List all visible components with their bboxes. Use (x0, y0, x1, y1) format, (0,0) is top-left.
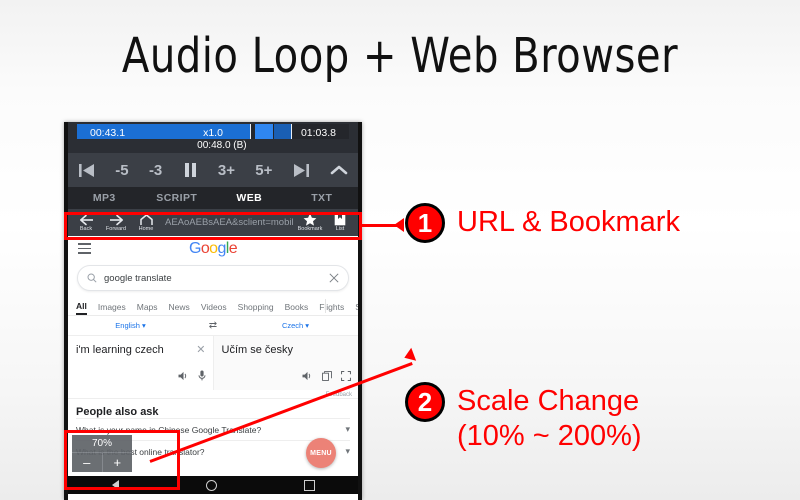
logo-letter: g (217, 240, 225, 257)
clear-search-icon (329, 273, 339, 283)
page-title: Audio Loop + Web Browser (28, 28, 772, 84)
gnav-news[interactable]: News (169, 302, 190, 315)
rewind-5-button[interactable]: -5 (115, 163, 128, 178)
translate-output-actions (302, 368, 351, 386)
next-track-button[interactable] (293, 163, 310, 178)
gnav-divider (325, 299, 326, 313)
gnav-search-tools[interactable]: Search (355, 302, 358, 315)
fullscreen-icon[interactable] (341, 368, 351, 386)
gnav-books[interactable]: Books (285, 302, 309, 315)
speaker-icon[interactable] (302, 368, 313, 386)
gnav-flights[interactable]: Flights (319, 302, 344, 315)
tab-web[interactable]: WEB (213, 192, 286, 204)
paa-title: People also ask (76, 406, 350, 418)
forward-5-button[interactable]: 5+ (255, 163, 272, 178)
rewind-3-button[interactable]: -3 (149, 163, 162, 178)
menu-fab-button[interactable]: MENU (306, 438, 336, 468)
seek-bar[interactable]: 00:43.1 x1.0 01:03.8 (77, 124, 349, 139)
logo-letter: e (229, 240, 237, 257)
loop-marker-label: 00:48.0 (B) (197, 140, 246, 152)
google-logo: Google (68, 240, 358, 258)
tab-mp3[interactable]: MP3 (68, 192, 141, 204)
highlight-box-url (64, 212, 362, 240)
gnav-all[interactable]: All (76, 301, 87, 315)
google-result-tabs: All Images Maps News Videos Shopping Boo… (68, 297, 358, 316)
annotation-badge-2: 2 (405, 382, 445, 422)
translate-card: English ▾ ⇄ Czech ▾ i'm learning czech ✕ (68, 316, 358, 399)
translate-target-text: Učím se česky (222, 343, 351, 357)
nav-recents-icon[interactable] (304, 480, 315, 491)
callout-arrowhead-1 (394, 218, 404, 232)
logo-letter: G (189, 240, 201, 257)
player-controls: -5 -3 3+ 5+ (68, 153, 358, 187)
annotation-badge-1: 1 (405, 203, 445, 243)
translate-source-text[interactable]: i'm learning czech (76, 343, 205, 357)
speaker-icon[interactable] (178, 368, 189, 386)
tab-script[interactable]: SCRIPT (141, 192, 214, 204)
google-search-box[interactable]: google translate (77, 265, 349, 291)
translate-input-actions (178, 368, 206, 386)
search-icon (87, 273, 97, 283)
annotation-2: 2 Scale Change (10% ~ 200%) (405, 382, 642, 454)
previous-track-button[interactable] (78, 163, 95, 178)
chevron-down-icon: ▾ (142, 321, 146, 330)
logo-letter: o (201, 240, 209, 257)
translate-language-bar: English ▾ ⇄ Czech ▾ (68, 316, 358, 336)
source-language-select[interactable]: English ▾ (68, 321, 193, 330)
swap-languages-icon[interactable]: ⇄ (193, 320, 233, 331)
annotation-text-2: Scale Change (10% ~ 200%) (457, 382, 642, 454)
total-time: 01:03.8 (301, 126, 336, 141)
feedback-link[interactable]: Feedback (68, 390, 358, 398)
annotation-1: 1 URL & Bookmark (405, 203, 680, 243)
chevron-down-icon[interactable]: ▾ (345, 424, 350, 435)
highlight-box-scale (64, 430, 180, 490)
annotation-text-1: URL & Bookmark (457, 203, 680, 240)
target-language-label: Czech (282, 321, 303, 330)
forward-3-button[interactable]: 3+ (218, 163, 235, 178)
gnav-images[interactable]: Images (98, 302, 126, 315)
audio-player: 00:43.1 x1.0 01:03.8 00:48.0 (B) -5 -3 3… (68, 122, 358, 209)
gnav-maps[interactable]: Maps (137, 302, 158, 315)
copy-icon[interactable] (322, 368, 332, 386)
gnav-videos[interactable]: Videos (201, 302, 227, 315)
chevron-up-icon[interactable] (330, 164, 348, 176)
search-query[interactable]: google translate (97, 273, 329, 284)
tab-txt[interactable]: TXT (286, 192, 359, 204)
microphone-icon[interactable] (198, 368, 206, 386)
translate-input-panel[interactable]: i'm learning czech ✕ (68, 336, 214, 390)
gnav-shopping[interactable]: Shopping (238, 302, 274, 315)
target-language-select[interactable]: Czech ▾ (233, 321, 358, 330)
chevron-down-icon: ▾ (305, 321, 309, 330)
seek-area[interactable]: 00:43.1 x1.0 01:03.8 00:48.0 (B) (68, 122, 358, 153)
translate-body: i'm learning czech ✕ Učím se česky (68, 336, 358, 390)
clear-translate-icon[interactable]: ✕ (196, 343, 205, 356)
player-tabs: MP3 SCRIPT WEB TXT (68, 187, 358, 209)
callout-arrowhead-2 (402, 348, 416, 365)
source-language-label: English (115, 321, 140, 330)
nav-home-icon[interactable] (206, 480, 217, 491)
chevron-down-icon[interactable]: ▾ (345, 446, 350, 457)
translate-output-panel: Učím se česky (214, 336, 359, 390)
pause-button[interactable] (183, 162, 198, 178)
